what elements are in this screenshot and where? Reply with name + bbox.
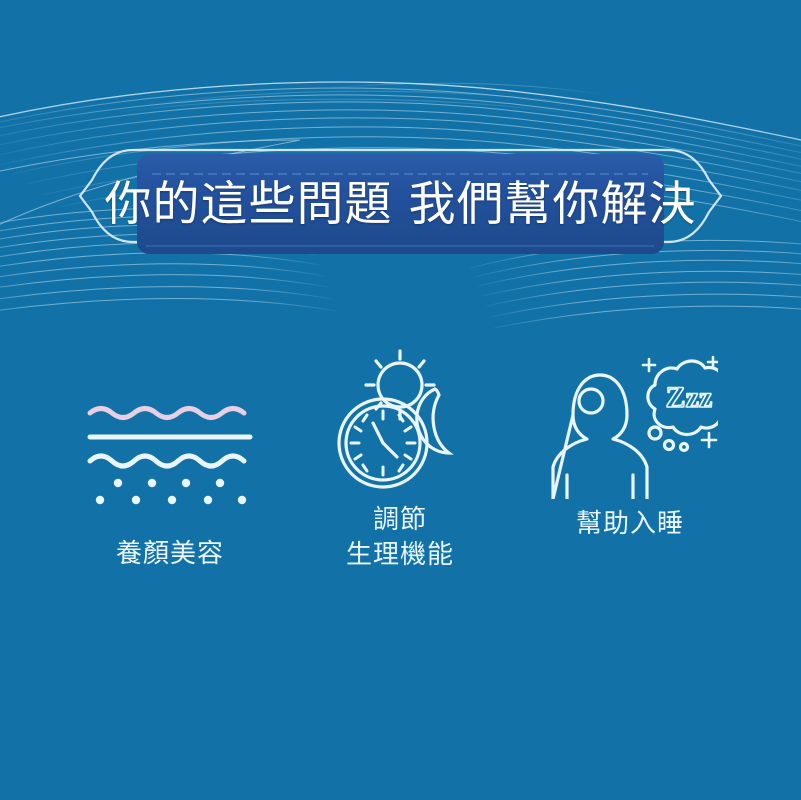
benefit-item-sleep: Zzz — [520, 345, 740, 542]
benefit-label-beauty: 養顏美容 — [116, 537, 224, 572]
benefits-row: 養顏美容 — [60, 345, 740, 573]
banner: 你的這些問題 我們幫你解決 — [0, 142, 801, 266]
dots-row-lower — [96, 496, 246, 504]
benefit-label-sleep: 幫助入睡 — [576, 507, 684, 542]
bubble-small — [680, 444, 687, 451]
person-eye-icon — [579, 389, 603, 413]
wave-line-top — [90, 409, 244, 418]
promo-card: 你的這些問題 我們幫你解決 — [0, 0, 801, 800]
zzz-text: Zzz — [665, 381, 712, 414]
wave-line-bottom — [90, 456, 244, 466]
person-icon — [553, 375, 647, 499]
bubble-large — [649, 427, 661, 439]
clock-hands — [373, 423, 397, 457]
banner-title: 你的這些問題 我們幫你解決 — [0, 142, 801, 266]
bubble-medium — [664, 441, 673, 450]
skin-waves-icon — [80, 345, 260, 529]
thought-bubble-icon: Zzz — [647, 361, 717, 451]
benefit-item-beauty: 養顏美容 — [60, 345, 280, 572]
benefit-item-physiology: 調節 生理機能 — [290, 345, 510, 573]
benefit-label-physiology: 調節 生理機能 — [346, 503, 454, 573]
sleeping-person-zzz-icon: Zzz — [543, 345, 718, 499]
clock-icon — [339, 399, 427, 487]
dots-row-upper — [114, 479, 224, 487]
sun-moon-clock-icon — [325, 345, 475, 495]
